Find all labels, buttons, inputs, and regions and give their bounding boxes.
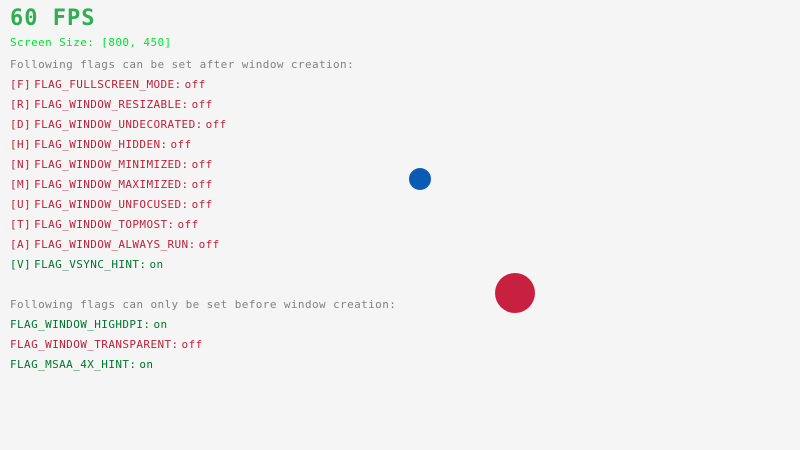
flag-shortcut-key: [A] [10, 238, 31, 251]
flag-state-value: off [192, 198, 213, 211]
flag-state-value: on [149, 258, 163, 271]
flag-name: FLAG_WINDOW_UNDECORATED: [34, 118, 203, 131]
flag-row[interactable]: [R]FLAG_WINDOW_RESIZABLE:off [10, 98, 213, 112]
flag-row[interactable]: [N]FLAG_WINDOW_MINIMIZED:off [10, 158, 213, 172]
flag-name: FLAG_WINDOW_ALWAYS_RUN: [34, 238, 196, 251]
flag-name: FLAG_FULLSCREEN_MODE: [34, 78, 181, 91]
flag-shortcut-key: [H] [10, 138, 31, 151]
flag-shortcut-key: [V] [10, 258, 31, 271]
runtime-flags-heading: Following flags can be set after window … [10, 58, 354, 72]
flag-state-value: on [139, 358, 153, 371]
flag-state-value: off [192, 98, 213, 111]
flag-name: FLAG_WINDOW_UNFOCUSED: [34, 198, 189, 211]
flag-shortcut-key: [N] [10, 158, 31, 171]
flag-state-value: on [153, 318, 167, 331]
flag-shortcut-key: [M] [10, 178, 31, 191]
flag-name: FLAG_WINDOW_RESIZABLE: [34, 98, 189, 111]
flag-state-value: off [185, 78, 206, 91]
flag-row[interactable]: [F]FLAG_FULLSCREEN_MODE:off [10, 78, 206, 92]
flag-row[interactable]: [T]FLAG_WINDOW_TOPMOST:off [10, 218, 199, 232]
flag-row[interactable]: [H]FLAG_WINDOW_HIDDEN:off [10, 138, 192, 152]
flag-state-value: off [192, 158, 213, 171]
ball-red [495, 273, 535, 313]
flag-name: FLAG_WINDOW_MINIMIZED: [34, 158, 189, 171]
flag-state-value: off [192, 178, 213, 191]
flag-row[interactable]: [A]FLAG_WINDOW_ALWAYS_RUN:off [10, 238, 220, 252]
flag-state-value: off [206, 118, 227, 131]
flag-row[interactable]: FLAG_MSAA_4X_HINT:on [10, 358, 153, 372]
flag-shortcut-key: [T] [10, 218, 31, 231]
flag-row[interactable]: FLAG_WINDOW_TRANSPARENT:off [10, 338, 203, 352]
flag-shortcut-key: [R] [10, 98, 31, 111]
raylib-window-canvas[interactable]: 60 FPS Screen Size: [800, 450] Following… [0, 0, 800, 450]
flag-shortcut-key: [D] [10, 118, 31, 131]
flag-state-value: off [182, 338, 203, 351]
screen-size-label: Screen Size: [800, 450] [10, 36, 172, 50]
startup-flags-heading: Following flags can only be set before w… [10, 298, 396, 312]
flag-row[interactable]: [U]FLAG_WINDOW_UNFOCUSED:off [10, 198, 213, 212]
flag-state-value: off [171, 138, 192, 151]
ball-blue [409, 168, 431, 190]
flag-state-value: off [178, 218, 199, 231]
flag-name: FLAG_WINDOW_TOPMOST: [34, 218, 174, 231]
flag-row[interactable]: [D]FLAG_WINDOW_UNDECORATED:off [10, 118, 227, 132]
flag-name: FLAG_WINDOW_HIGHDPI: [10, 318, 150, 331]
flag-row[interactable]: [V]FLAG_VSYNC_HINT:on [10, 258, 164, 272]
flag-name: FLAG_WINDOW_MAXIMIZED: [34, 178, 189, 191]
flag-name: FLAG_VSYNC_HINT: [34, 258, 146, 271]
flag-name: FLAG_WINDOW_HIDDEN: [34, 138, 167, 151]
flag-row[interactable]: [M]FLAG_WINDOW_MAXIMIZED:off [10, 178, 213, 192]
fps-counter: 60 FPS [10, 6, 95, 32]
flag-row[interactable]: FLAG_WINDOW_HIGHDPI:on [10, 318, 168, 332]
flag-name: FLAG_WINDOW_TRANSPARENT: [10, 338, 179, 351]
flag-state-value: off [199, 238, 220, 251]
flag-shortcut-key: [U] [10, 198, 31, 211]
flag-shortcut-key: [F] [10, 78, 31, 91]
flag-name: FLAG_MSAA_4X_HINT: [10, 358, 136, 371]
